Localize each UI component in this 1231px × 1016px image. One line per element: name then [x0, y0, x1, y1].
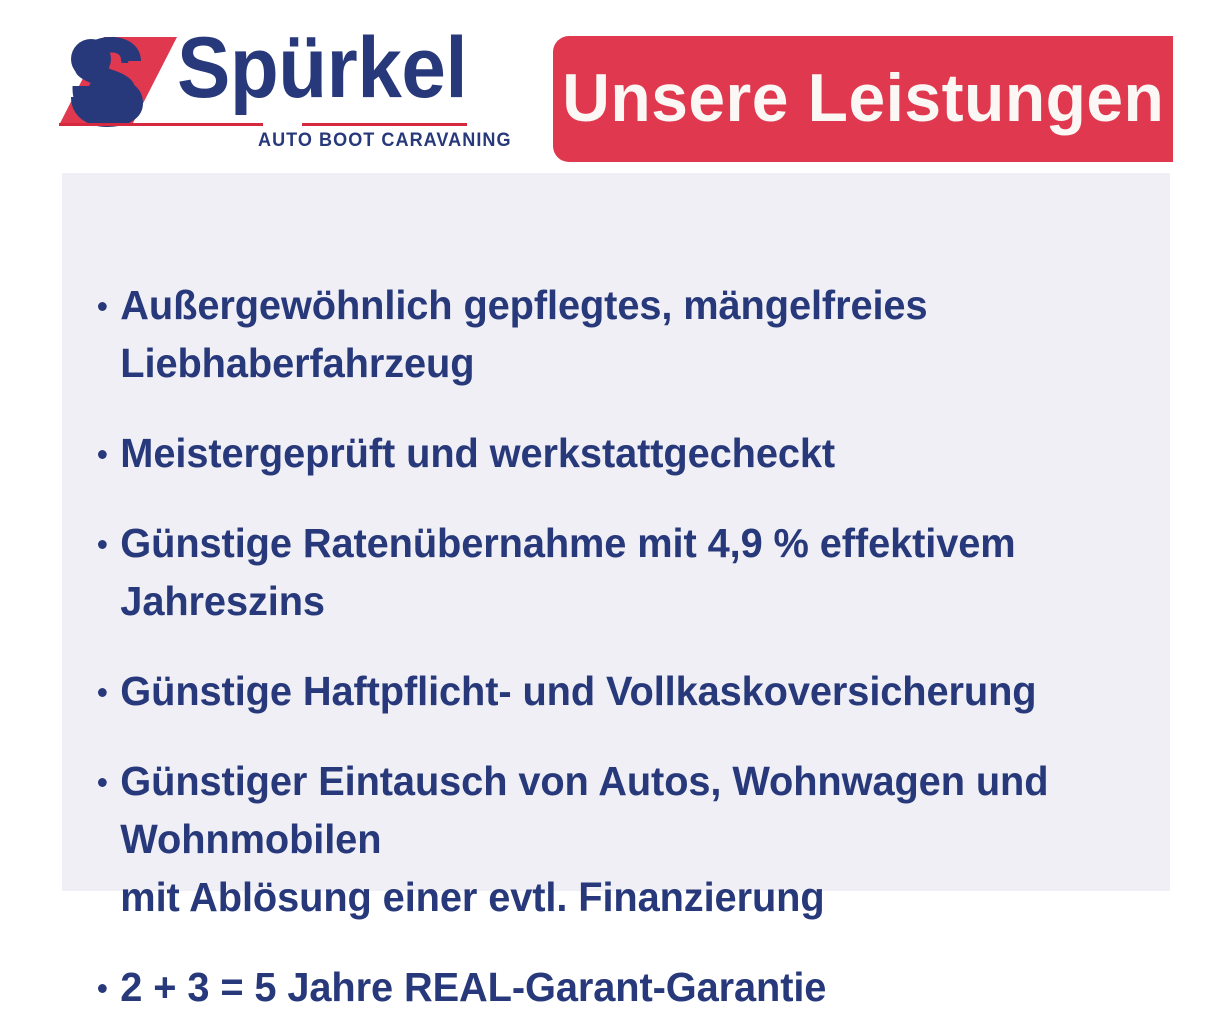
list-item-label: 2 + 3 = 5 Jahre REAL-Garant-Garantie [120, 964, 826, 1010]
list-item: Günstige Ratenübernahme mit 4,9 % effekt… [98, 514, 1126, 630]
logo-divider-right [302, 123, 467, 126]
list-item: 2 + 3 = 5 Jahre REAL-Garant-Garantie [98, 958, 1126, 1016]
services-panel: Außergewöhnlich gepflegtes, mängelfreies… [62, 173, 1170, 891]
spuerkel-s-emblem-icon [57, 35, 179, 127]
list-item: Meistergeprüft und werkstattgecheckt [98, 424, 1126, 482]
services-list: Außergewöhnlich gepflegtes, mängelfreies… [98, 276, 1158, 1016]
list-item-label: Günstige Ratenübernahme mit 4,9 % effekt… [120, 520, 1015, 624]
logo-wordmark: Spürkel [177, 25, 467, 111]
list-item-label: Meistergeprüft und werkstattgecheckt [120, 430, 835, 476]
page-header: Spürkel AUTO BOOT CARAVANING Unsere Leis… [0, 0, 1231, 173]
section-banner: Unsere Leistungen [553, 36, 1173, 162]
list-item: Günstiger Eintausch von Autos, Wohnwagen… [98, 752, 1126, 926]
list-item-label: Günstiger Eintausch von Autos, Wohnwagen… [120, 758, 1048, 862]
company-logo: Spürkel AUTO BOOT CARAVANING [57, 33, 467, 153]
list-item-label-continued: mit Ablösung einer evtl. Finanzierung [120, 868, 1126, 926]
logo-divider-left [59, 123, 263, 126]
list-item: Außergewöhnlich gepflegtes, mängelfreies… [98, 276, 1126, 392]
list-item-label: Außergewöhnlich gepflegtes, mängelfreies… [120, 282, 927, 386]
list-item-label: Günstige Haftpflicht- und Vollkaskoversi… [120, 668, 1036, 714]
list-item: Günstige Haftpflicht- und Vollkaskoversi… [98, 662, 1126, 720]
logo-tagline: AUTO BOOT CARAVANING [258, 130, 467, 152]
banner-title: Unsere Leistungen [562, 64, 1164, 132]
